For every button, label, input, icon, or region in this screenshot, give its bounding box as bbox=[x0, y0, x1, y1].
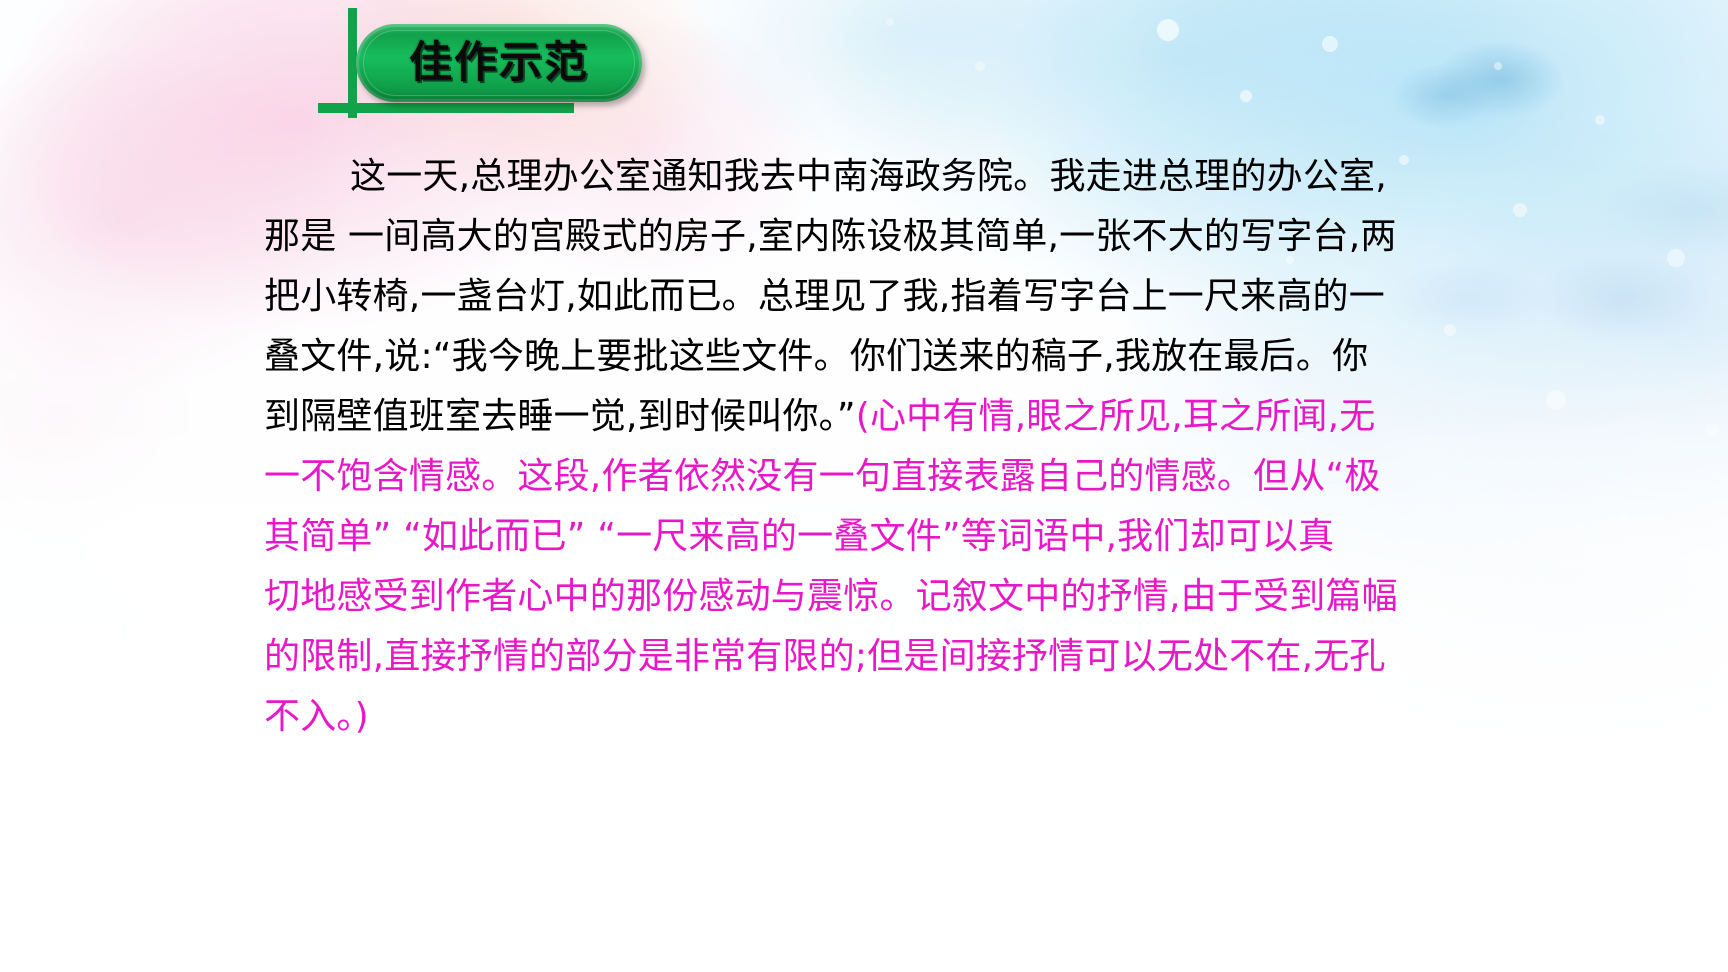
text-line-4-content: 叠文件,说:“我今晚上要批这些文件。你们送来的稿子,我放在最后。你 bbox=[264, 336, 1368, 377]
text-line-3: 把小转椅,一盏台灯,如此而已。总理见了我,指着写字台上一尺来高的一 bbox=[264, 267, 1316, 327]
text-line-2-content: 那是 一间高大的宫殿式的房子,室内陈设极其简单,一张不大的写字台,两 bbox=[264, 216, 1397, 257]
title-banner: 佳作示范 bbox=[316, 6, 656, 122]
text-line-7: 其简单” “如此而已” “一尺来高的一叠文件”等词语中,我们却可以真 bbox=[264, 507, 1316, 567]
text-line-4: 叠文件,说:“我今晚上要批这些文件。你们送来的稿子,我放在最后。你 bbox=[264, 327, 1316, 387]
text-line-1-content: 这一天,总理办公室通知我去中南海政务院。我走进总理的办公室, bbox=[350, 156, 1387, 197]
body-text-block: 这一天,总理办公室通知我去中南海政务院。我走进总理的办公室, 那是 一间高大的宫… bbox=[264, 147, 1316, 747]
text-line-9-content: 的限制,直接抒情的部分是非常有限的;但是间接抒情可以无处不在,无孔 bbox=[264, 636, 1386, 677]
text-line-5: 到隔壁值班室去睡一觉,到时候叫你。”(心中有情,眼之所见,耳之所闻,无 bbox=[264, 387, 1316, 447]
text-line-6-content: 一不饱含情感。这段,作者依然没有一句直接表露自己的情感。但从“极 bbox=[264, 456, 1381, 497]
text-line-10: 不入。) bbox=[264, 687, 1316, 747]
text-line-8: 切地感受到作者心中的那份感动与震惊。记叙文中的抒情,由于受到篇幅 bbox=[264, 567, 1316, 627]
slide-canvas: 佳作示范 这一天,总理办公室通知我去中南海政务院。我走进总理的办公室, 那是 一… bbox=[0, 0, 1728, 972]
text-line-9: 的限制,直接抒情的部分是非常有限的;但是间接抒情可以无处不在,无孔 bbox=[264, 627, 1316, 687]
text-line-5-commentary-start: (心中有情,眼之所见,耳之所闻,无 bbox=[856, 396, 1376, 437]
title-label: 佳作示范 bbox=[409, 42, 589, 85]
text-line-6: 一不饱含情感。这段,作者依然没有一句直接表露自己的情感。但从“极 bbox=[264, 447, 1316, 507]
text-line-8-content: 切地感受到作者心中的那份感动与震惊。记叙文中的抒情,由于受到篇幅 bbox=[264, 576, 1398, 617]
text-line-1: 这一天,总理办公室通知我去中南海政务院。我走进总理的办公室, bbox=[264, 147, 1316, 207]
text-line-10-content: 不入。) bbox=[264, 696, 369, 737]
text-line-5-quote-end: 到隔壁值班室去睡一觉,到时候叫你。” bbox=[264, 396, 856, 437]
title-pill: 佳作示范 bbox=[356, 24, 642, 102]
accent-bar-horizontal bbox=[318, 103, 574, 113]
text-line-2: 那是 一间高大的宫殿式的房子,室内陈设极其简单,一张不大的写字台,两 bbox=[264, 207, 1316, 267]
text-line-7-content: 其简单” “如此而已” “一尺来高的一叠文件”等词语中,我们却可以真 bbox=[264, 516, 1334, 557]
text-line-3-content: 把小转椅,一盏台灯,如此而已。总理见了我,指着写字台上一尺来高的一 bbox=[264, 276, 1385, 317]
